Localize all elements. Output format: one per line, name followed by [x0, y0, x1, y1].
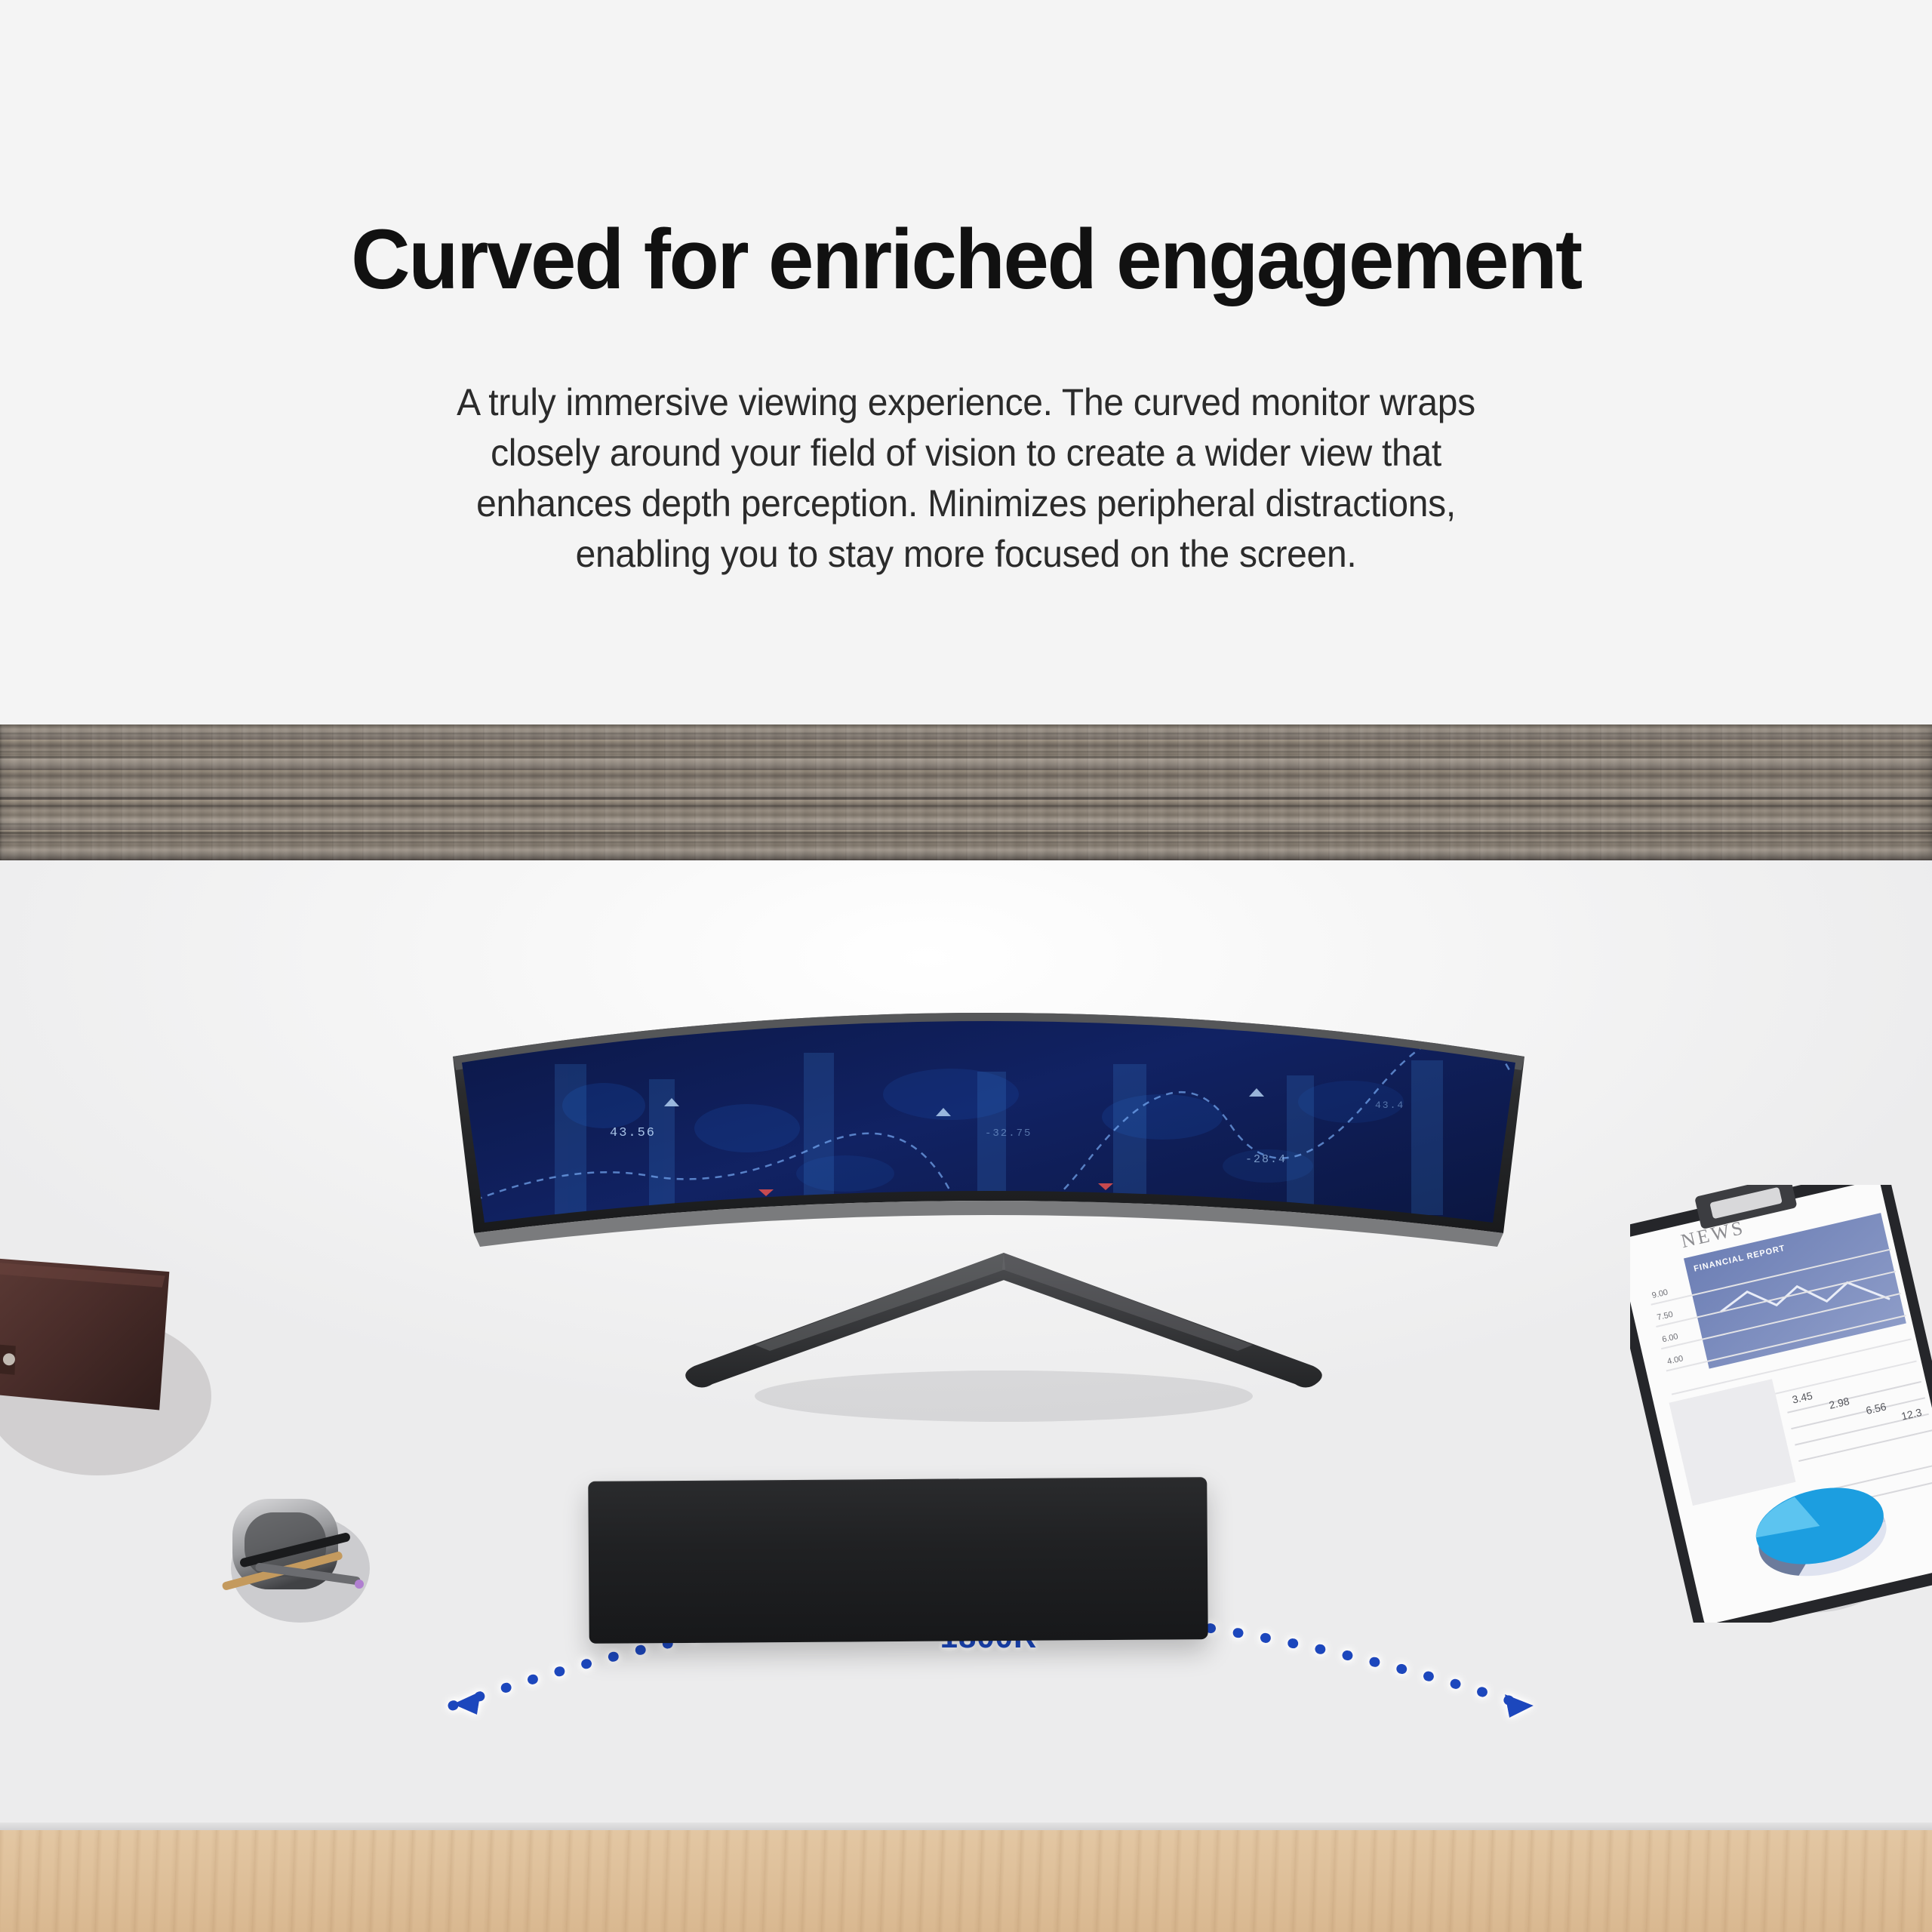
header-section: Curved for enriched engagement A truly i…	[0, 0, 1932, 724]
pen-holder-dish	[211, 1479, 362, 1607]
page-description: A truly immersive viewing experience. Th…	[358, 377, 1575, 580]
monitor-stand	[664, 1253, 1343, 1449]
keyboard-row-home	[595, 1550, 1201, 1574]
description-line-2: closely around your field of vision to c…	[358, 428, 1575, 478]
leather-organizer	[0, 1245, 211, 1479]
keyboard-row-zxcv	[595, 1572, 1201, 1596]
keyboard-row-function	[595, 1483, 1200, 1507]
description-line-3: enhances depth perception. Minimizes per…	[358, 478, 1575, 529]
screen-label-2: -28.4	[1245, 1153, 1287, 1166]
keyboard-row-numbers	[595, 1506, 1201, 1530]
parquet-floor	[0, 1830, 1932, 1932]
page-title: Curved for enriched engagement	[29, 217, 1903, 302]
monitor-screen: 43.56 -28.4 -32.75 43.4	[423, 974, 1555, 1298]
description-line-1: A truly immersive viewing experience. Th…	[358, 377, 1575, 428]
stylus-tip	[355, 1580, 364, 1589]
keyboard-row-space	[595, 1595, 1201, 1619]
screen-label-1: 43.56	[610, 1126, 656, 1140]
keyboard[interactable]	[588, 1477, 1207, 1644]
description-line-4: enabling you to stay more focused on the…	[358, 529, 1575, 580]
keyboard-row-qwerty	[595, 1527, 1201, 1552]
clipboard-with-report: NEWS FINANCIAL REPORT 9.00 7.50 6.00 4.0…	[1630, 1185, 1932, 1615]
curved-monitor: 43.56 -28.4 -32.75 43.4	[423, 974, 1555, 1291]
product-photo-scene: 1800R	[0, 724, 1932, 1932]
wood-plank-wall	[0, 724, 1932, 860]
screen-label-4: 43.4	[1375, 1100, 1404, 1111]
product-feature-page: Curved for enriched engagement A truly i…	[0, 0, 1932, 1932]
screen-label-3: -32.75	[985, 1128, 1032, 1140]
